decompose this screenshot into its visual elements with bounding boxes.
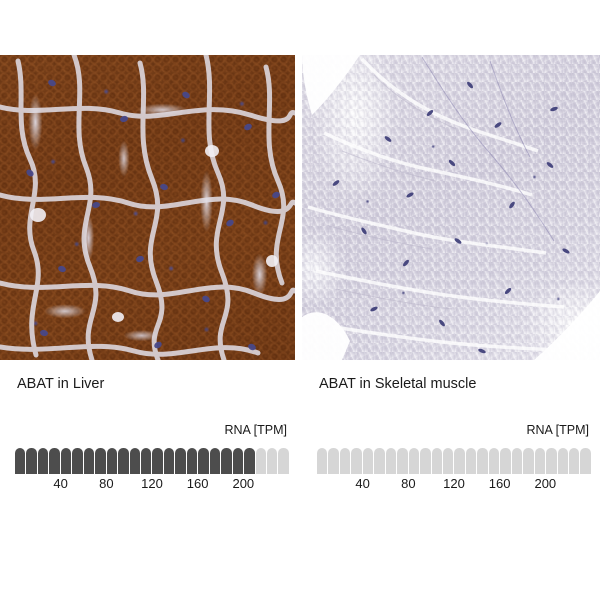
bar [141,448,151,474]
bar [233,448,243,474]
bar [328,448,338,474]
micrograph-panel-skeletal-muscle[interactable] [302,55,600,360]
bar [256,448,266,474]
bar [267,448,277,474]
bar [317,448,327,474]
bar [198,448,208,474]
panel-caption-liver: ABAT in Liver [17,376,104,392]
bar-group [317,448,591,474]
axis-tick-label: 120 [443,476,465,491]
bar [72,448,82,474]
bar [535,448,545,474]
bar [38,448,48,474]
bar [244,448,254,474]
bar [152,448,162,474]
bar [512,448,522,474]
liver-sinusoid-overlay [0,55,295,360]
bar [15,448,25,474]
page-root: ABAT in Liver RNA [TPM] 4080120160200 AB… [0,0,600,600]
axis-tick-label: 120 [141,476,163,491]
bar [489,448,499,474]
bar [432,448,442,474]
bar [466,448,476,474]
bar [61,448,71,474]
bar [386,448,396,474]
bar [340,448,350,474]
bar [420,448,430,474]
micrograph-panel-liver[interactable] [0,55,295,360]
bar [523,448,533,474]
axis-tick-label: 200 [232,476,254,491]
bar [569,448,579,474]
bar [558,448,568,474]
rna-tpm-label-skeletal-muscle: RNA [TPM] [526,423,589,437]
axis-tick-label: 80 [401,476,415,491]
bar [175,448,185,474]
bar [546,448,556,474]
axis-tick-label: 160 [187,476,209,491]
bar [278,448,288,474]
axis-tick-label: 200 [534,476,556,491]
bar [95,448,105,474]
axis-tick-label: 80 [99,476,113,491]
bar [49,448,59,474]
micrograph-panel-row [0,55,600,360]
bar [363,448,373,474]
muscle-fibre-overlay [302,55,600,360]
bar [221,448,231,474]
bar [107,448,117,474]
axis-ticks-liver: 4080120160200 [15,476,289,496]
bar [84,448,94,474]
axis-tick-label: 40 [53,476,67,491]
bar [374,448,384,474]
bar [477,448,487,474]
axis-ticks-skeletal-muscle: 4080120160200 [317,476,591,496]
panel-block-liver: ABAT in Liver RNA [TPM] 4080120160200 [0,376,295,506]
bar [26,448,36,474]
panel-block-skeletal-muscle: ABAT in Skeletal muscle RNA [TPM] 408012… [302,376,597,506]
bar [409,448,419,474]
bar [580,448,590,474]
axis-tick-label: 40 [355,476,369,491]
rna-bar-scale-liver[interactable] [15,448,289,474]
axis-tick-label: 160 [489,476,511,491]
bar [443,448,453,474]
rna-tpm-label-liver: RNA [TPM] [224,423,287,437]
bar [454,448,464,474]
bar [397,448,407,474]
bar [351,448,361,474]
bar [164,448,174,474]
bar-group [15,448,289,474]
bar [118,448,128,474]
bar [187,448,197,474]
bar [500,448,510,474]
bar [210,448,220,474]
rna-bar-scale-skeletal-muscle[interactable] [317,448,591,474]
panel-caption-skeletal-muscle: ABAT in Skeletal muscle [319,376,476,392]
bar [130,448,140,474]
